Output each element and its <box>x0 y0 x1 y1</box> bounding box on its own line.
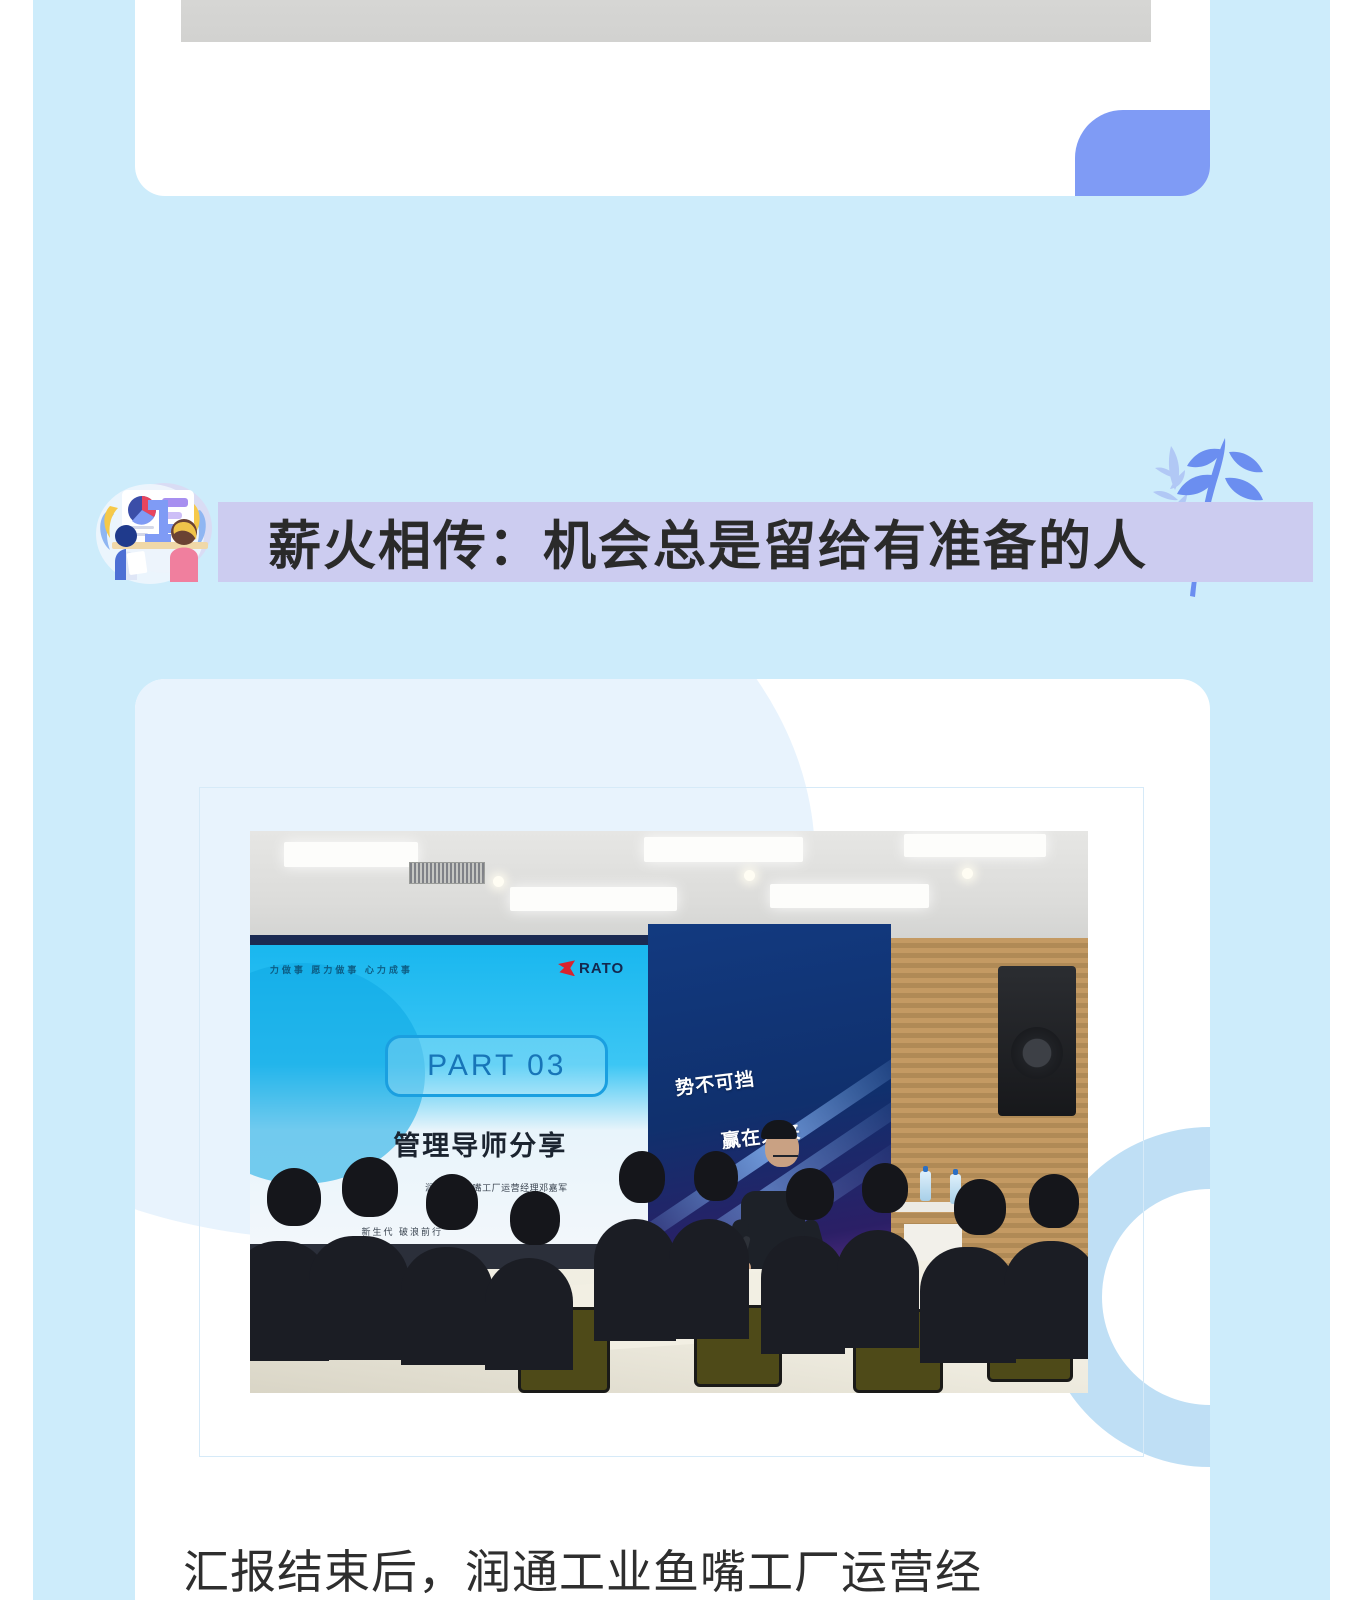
ceiling-light <box>510 887 678 911</box>
audience-shoulders <box>594 1219 676 1341</box>
audience-head <box>342 1157 398 1217</box>
rato-wordmark: RATO <box>579 960 624 977</box>
rounded-blue-block <box>1075 110 1210 196</box>
banner-slogan-line1: 势不可挡 <box>673 1064 756 1101</box>
ceiling-downlight <box>493 876 504 887</box>
audience-head <box>619 1151 665 1203</box>
slide-part-box: PART 03 <box>385 1035 608 1098</box>
audience-head <box>786 1168 834 1220</box>
audience-shoulders <box>669 1219 749 1339</box>
slide-part-label: PART 03 <box>427 1049 566 1083</box>
audience-shoulders <box>1004 1241 1088 1359</box>
audience-shoulders <box>309 1236 409 1360</box>
rato-logo: RATO <box>558 960 624 977</box>
top-content-card <box>135 0 1210 196</box>
section-title: 薪火相传：机会总是留给有准备的人 <box>88 456 1248 606</box>
audience-shoulders <box>485 1258 573 1370</box>
section-title-text: 薪火相传：机会总是留给有准备的人 <box>268 502 1268 582</box>
meeting-photo: 力做事 愿力做事 心力成事 RATO PART 03 管理导师分享 润通工业鱼嘴… <box>250 831 1088 1393</box>
audience-head <box>1029 1174 1079 1228</box>
audience-head <box>510 1191 560 1245</box>
ceiling-light <box>644 837 803 863</box>
top-photo <box>181 0 1151 42</box>
ceiling-vent <box>409 862 484 884</box>
presenter-glasses <box>773 1155 798 1161</box>
ceiling-light <box>904 834 1046 858</box>
audience-head <box>426 1174 478 1230</box>
classroom-photo-scene <box>181 0 1151 42</box>
water-bottle <box>920 1171 931 1201</box>
audience-shoulders <box>920 1247 1016 1363</box>
slide-title: 管理导师分享 <box>393 1124 567 1163</box>
wall-speaker <box>998 966 1076 1116</box>
audience-head <box>954 1179 1006 1235</box>
slide-top-strip: 力做事 愿力做事 心力成事 <box>270 963 413 976</box>
ceiling-light <box>284 842 418 867</box>
audience-head <box>694 1151 738 1201</box>
audience-head <box>267 1168 321 1226</box>
photo-floor <box>181 0 1151 42</box>
audience-shoulders <box>837 1230 919 1348</box>
body-paragraph: 汇报结束后，润通工业鱼嘴工厂运营经 <box>183 1536 1163 1600</box>
audience-shoulders <box>761 1236 845 1354</box>
people-presentation-illustration <box>88 470 232 592</box>
rato-mark-icon <box>558 960 575 976</box>
ceiling-downlight <box>962 868 973 879</box>
page-root: 薪火相传：机会总是留给有准备的人 力做事 愿力做事 心力成事 <box>0 0 1363 1600</box>
ceiling-light <box>770 884 929 908</box>
audience-head <box>862 1163 908 1213</box>
audience-shoulders <box>401 1247 493 1365</box>
main-content-card: 力做事 愿力做事 心力成事 RATO PART 03 管理导师分享 润通工业鱼嘴… <box>135 679 1210 1600</box>
